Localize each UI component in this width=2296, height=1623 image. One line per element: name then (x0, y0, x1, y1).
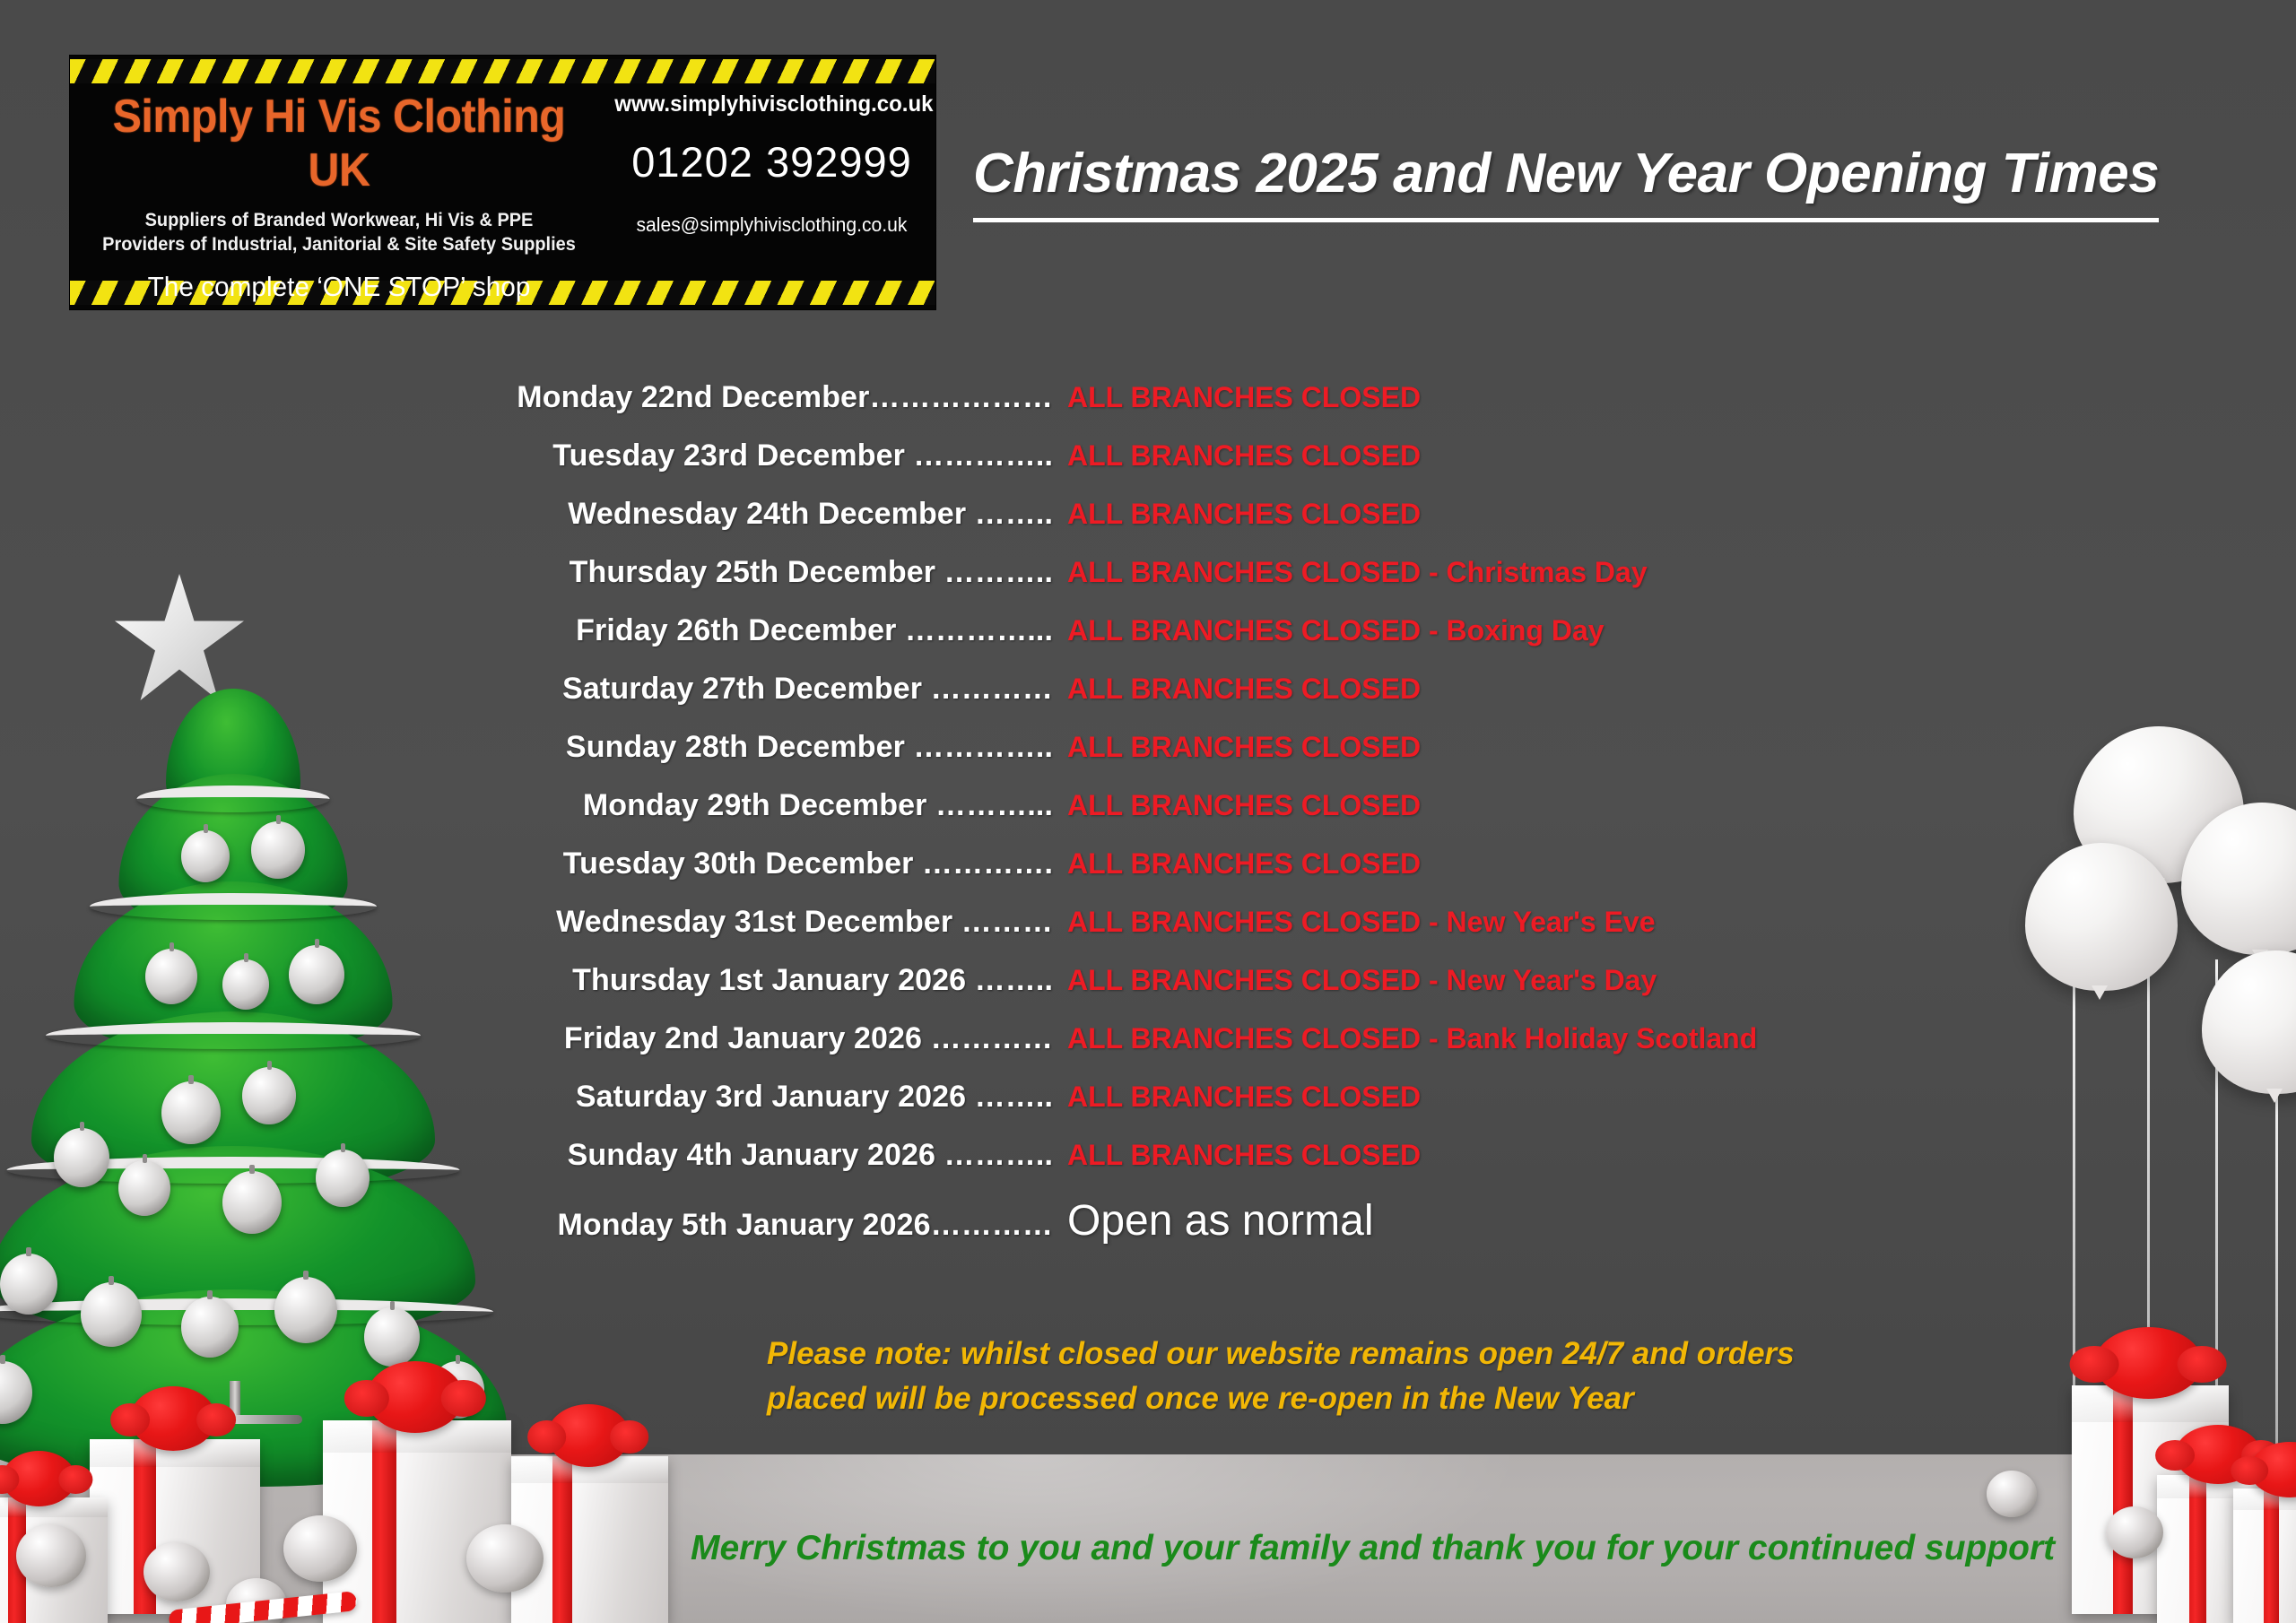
schedule-status: ALL BRANCHES CLOSED - New Year's Eve (1067, 906, 1656, 939)
schedule-row: Sunday 28th December …………..ALL BRANCHES … (0, 730, 2296, 788)
schedule-row: Saturday 3rd January 2026 ……..ALL BRANCH… (0, 1080, 2296, 1138)
schedule-row: Thursday 1st January 2026 ……..ALL BRANCH… (0, 963, 2296, 1021)
schedule-row: Saturday 27th December …………ALL BRANCHES … (0, 672, 2296, 730)
note-line-1: Please note: whilst closed our website r… (767, 1332, 1933, 1376)
schedule-status: ALL BRANCHES CLOSED (1067, 847, 1421, 881)
note-line-2: placed will be processed once we re-open… (767, 1376, 1933, 1421)
schedule-row: Wednesday 24th December ……..ALL BRANCHES… (0, 497, 2296, 555)
gift-box (511, 1394, 668, 1623)
schedule-status: ALL BRANCHES CLOSED (1067, 498, 1421, 531)
brand-tagline: The complete ‘ONE STOP’ shop (81, 271, 597, 303)
greeting-message: Merry Christmas to you and your family a… (691, 1529, 2055, 1568)
schedule-day: Monday 5th January 2026………… (0, 1208, 1067, 1243)
email-link[interactable]: sales@simplyhivisclothing.co.uk (614, 213, 928, 237)
schedule-day: Thursday 1st January 2026 …….. (0, 963, 1067, 998)
schedule-row: Monday 22nd December………………ALL BRANCHES C… (0, 380, 2296, 438)
schedule-row: Wednesday 31st December ………ALL BRANCHES … (0, 905, 2296, 963)
page-title: Christmas 2025 and New Year Opening Time… (973, 142, 2159, 222)
schedule-status: ALL BRANCHES CLOSED (1067, 673, 1421, 706)
schedule-row: Friday 2nd January 2026 …………ALL BRANCHES… (0, 1021, 2296, 1080)
website-note: Please note: whilst closed our website r… (767, 1332, 1933, 1420)
website-link[interactable]: www.simplyhivisclothing.co.uk (614, 91, 928, 117)
schedule-day: Monday 22nd December……………… (0, 380, 1067, 415)
brand-subline-2: Providers of Industrial, Janitorial & Si… (83, 234, 595, 256)
schedule-status: ALL BRANCHES CLOSED - Christmas Day (1067, 556, 1648, 589)
logo-left-column: Simply Hi Vis Clothing UK Suppliers of B… (70, 90, 608, 303)
schedule-day: Thursday 25th December ……….. (0, 555, 1067, 590)
gift-box (2233, 1439, 2296, 1623)
ribbon-garland (0, 1298, 493, 1325)
schedule-day: Tuesday 30th December …………. (0, 846, 1067, 881)
schedule-status: ALL BRANCHES CLOSED (1067, 789, 1421, 822)
floor-ornament (1987, 1471, 2037, 1517)
bauble (181, 1297, 239, 1358)
floor-ornament (2106, 1506, 2163, 1558)
hazard-stripe-top (70, 59, 935, 83)
schedule-row: Sunday 4th January 2026 ………..ALL BRANCHE… (0, 1138, 2296, 1196)
schedule-status: Open as normal (1067, 1196, 1374, 1245)
schedule-status: ALL BRANCHES CLOSED (1067, 1081, 1421, 1114)
schedule-day: Saturday 3rd January 2026 …….. (0, 1080, 1067, 1115)
schedule-status: ALL BRANCHES CLOSED (1067, 1139, 1421, 1172)
floor-ornament (143, 1542, 210, 1601)
bauble (274, 1277, 337, 1343)
schedule-status: ALL BRANCHES CLOSED - Boxing Day (1067, 614, 1605, 647)
schedule-day: Wednesday 31st December ……… (0, 905, 1067, 940)
schedule-row: Tuesday 23rd December …………..ALL BRANCHES… (0, 438, 2296, 497)
logo-contact-column: www.simplyhivisclothing.co.uk 01202 3929… (608, 91, 935, 237)
brand-subline-1: Suppliers of Branded Workwear, Hi Vis & … (83, 210, 595, 231)
poster-canvas: Simply Hi Vis Clothing UK Suppliers of B… (0, 0, 2296, 1623)
schedule-day: Tuesday 23rd December ………….. (0, 438, 1067, 473)
brand-name: Simply Hi Vis Clothing UK (89, 90, 589, 197)
floor-ornament (16, 1524, 86, 1587)
floor-ornament (466, 1524, 544, 1593)
schedule-status: ALL BRANCHES CLOSED (1067, 731, 1421, 764)
schedule-row: Thursday 25th December ………..ALL BRANCHES… (0, 555, 2296, 613)
schedule-row: Tuesday 30th December ………….ALL BRANCHES … (0, 846, 2296, 905)
schedule-day: Friday 26th December …………... (0, 613, 1067, 648)
floor-ornament (283, 1515, 357, 1582)
schedule-row: Monday 29th December ………...ALL BRANCHES … (0, 788, 2296, 846)
schedule-day: Monday 29th December ………... (0, 788, 1067, 823)
schedule-day: Friday 2nd January 2026 ………… (0, 1021, 1067, 1056)
schedule-day: Sunday 28th December ………….. (0, 730, 1067, 765)
phone-number[interactable]: 01202 392999 (608, 137, 935, 187)
schedule-status: ALL BRANCHES CLOSED (1067, 381, 1421, 414)
company-logo[interactable]: Simply Hi Vis Clothing UK Suppliers of B… (70, 56, 935, 309)
schedule-status: ALL BRANCHES CLOSED (1067, 439, 1421, 473)
schedule-day: Wednesday 24th December …….. (0, 497, 1067, 532)
opening-times-list: Monday 22nd December………………ALL BRANCHES C… (0, 380, 2296, 1266)
schedule-row: Friday 26th December …………...ALL BRANCHES… (0, 613, 2296, 672)
schedule-status: ALL BRANCHES CLOSED - Bank Holiday Scotl… (1067, 1022, 1757, 1055)
schedule-status: ALL BRANCHES CLOSED - New Year's Day (1067, 964, 1657, 997)
schedule-row: Monday 5th January 2026…………Open as norma… (0, 1196, 2296, 1266)
schedule-day: Sunday 4th January 2026 ……….. (0, 1138, 1067, 1173)
bauble (81, 1282, 142, 1347)
schedule-day: Saturday 27th December ………… (0, 672, 1067, 707)
